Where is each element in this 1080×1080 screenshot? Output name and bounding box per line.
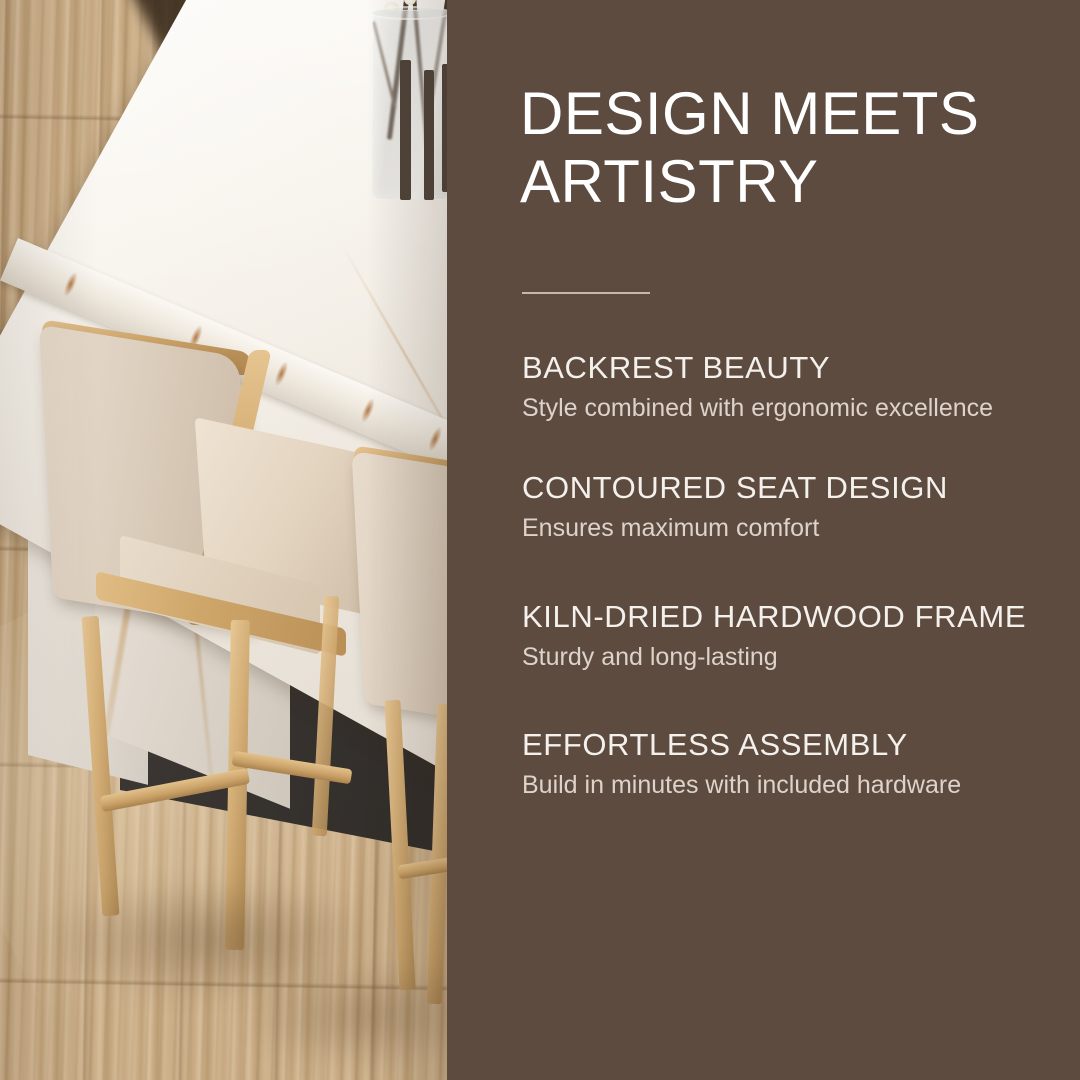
feature-panel: DESIGN MEETS ARTISTRY BACKREST BEAUTY St…: [447, 0, 1080, 1080]
marble-edge-mark: [425, 425, 443, 452]
feature-description: Ensures maximum comfort: [522, 513, 1062, 545]
product-photo: [0, 0, 447, 1080]
marble-edge-mark: [62, 271, 80, 298]
feature-title: KILN-DRIED HARDWOOD FRAME: [522, 597, 1062, 638]
feature-item-effortless-assembly: EFFORTLESS ASSEMBLY Build in minutes wit…: [522, 725, 1062, 801]
feature-item-kiln-dried-hardwood-frame: KILN-DRIED HARDWOOD FRAME Sturdy and lon…: [522, 597, 1062, 673]
feature-item-contoured-seat-design: CONTOURED SEAT DESIGN Ensures maximum co…: [522, 468, 1062, 544]
marble-edge-mark: [358, 397, 376, 424]
promo-canvas: DESIGN MEETS ARTISTRY BACKREST BEAUTY St…: [0, 0, 1080, 1080]
feature-list: BACKREST BEAUTY Style combined with ergo…: [522, 348, 1062, 802]
stool-floor-shadow: [240, 960, 447, 1070]
title-divider: [522, 292, 650, 294]
feature-title: BACKREST BEAUTY: [522, 348, 1062, 389]
feature-title: CONTOURED SEAT DESIGN: [522, 468, 1062, 509]
feature-item-backrest-beauty: BACKREST BEAUTY Style combined with ergo…: [522, 348, 1062, 424]
feature-description: Style combined with ergonomic excellence: [522, 393, 1062, 425]
glass-vase-rim: [370, 6, 447, 20]
feature-description: Build in minutes with included hardware: [522, 770, 1062, 802]
feature-title: EFFORTLESS ASSEMBLY: [522, 725, 1062, 766]
feature-description: Sturdy and long-lasting: [522, 642, 1062, 674]
page-title: DESIGN MEETS ARTISTRY: [520, 80, 1060, 216]
stool-backrest: [352, 451, 447, 727]
marble-edge-mark: [272, 360, 290, 387]
branch-stem: [400, 60, 411, 200]
branch-stem: [424, 70, 434, 200]
